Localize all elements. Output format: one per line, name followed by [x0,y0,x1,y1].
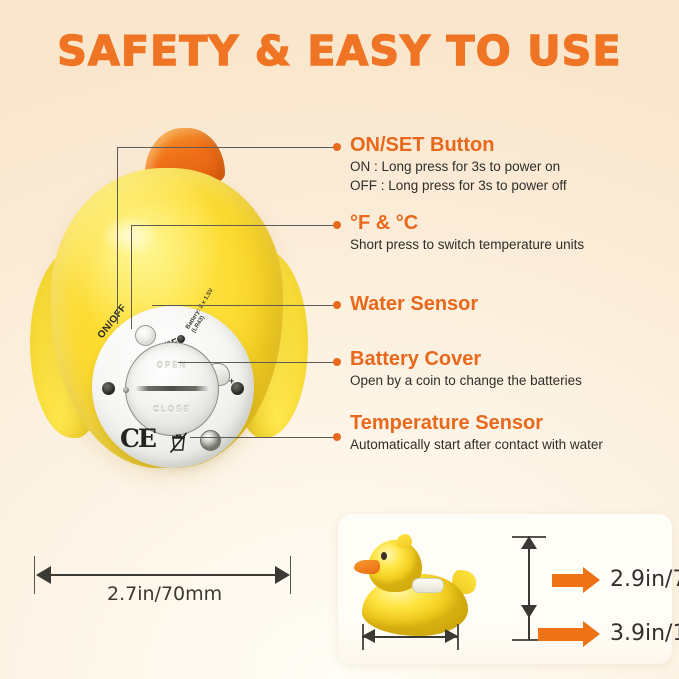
inset-width-label: 3.9in/100mm [610,621,679,646]
callout-line-1: ON : Long press for 3s to power on [350,158,567,176]
inset-height-label: 2.9in/75mm [610,567,679,592]
duck-beak-side [354,560,380,574]
page-title: SAFETY & EASY TO USE [0,27,679,75]
callout-line-1: Short press to switch temperature units [350,236,584,254]
infographic-page: SAFETY & EASY TO USE ON/OFF °C/°F Batter… [0,0,679,679]
leader-line-units-horizontal [131,225,335,226]
callout-temperature-sensor: Temperature Sensor Automatically start a… [350,412,603,455]
dimension-line [40,574,284,576]
callout-on-set-button: ON/SET Button ON : Long press for 3s to … [350,134,567,195]
leader-line-on-set-vertical [117,147,118,324]
control-panel: ON/OFF °C/°F Battery: 2 x 1.5V (LR43) − … [92,306,254,468]
leader-dot-units [333,221,341,229]
temperature-sensor-probe [200,430,221,451]
cover-close-text: CLOSE [126,405,218,414]
duck-eye [381,552,387,560]
callout-arrow-height [552,574,584,587]
callout-line-1: Open by a coin to change the batteries [350,372,582,390]
dimension-cap-right [290,556,291,594]
onoff-button[interactable] [135,325,156,346]
weee-bin-icon [170,432,187,453]
duck-head-tuft [396,534,412,548]
ce-mark: CE [120,426,155,451]
callout-heading: °F & °C [350,212,584,234]
callout-temperature-units: °F & °C Short press to switch temperatur… [350,212,584,255]
duck-product-rear-view: ON/OFF °C/°F Battery: 2 x 1.5V (LR43) − … [28,128,308,478]
callout-line-1: Automatically start after contact with w… [350,436,603,454]
battery-cover[interactable]: OPEN CLOSE [125,342,219,436]
callout-heading: Water Sensor [350,293,478,315]
leader-line-temperature-sensor [190,437,335,438]
leader-dot-on-set [333,143,341,151]
height-dimension-line [528,536,530,640]
coin-slot [135,386,209,391]
callout-heading: Battery Cover [350,348,582,370]
callout-line-2: OFF : Long press for 3s to power off [350,177,567,195]
dimension-arrow-right [275,566,290,584]
height-arrow-up [521,536,537,549]
inset-width-arrow-left [362,629,375,643]
size-inset-panel: 2.9in/75mm 3.9in/100mm [338,514,672,664]
callout-heading: ON/SET Button [350,134,567,156]
panel-screw-left [102,382,115,395]
leader-dot-temperature-sensor [333,433,341,441]
width-dimension-label: 2.7in/70mm [107,583,222,605]
panel-screw-right [231,382,244,395]
callout-battery-cover: Battery Cover Open by a coin to change t… [350,348,582,391]
leader-line-units-vertical [131,225,132,329]
dimension-arrow-left [36,566,51,584]
callout-water-sensor: Water Sensor [350,293,478,315]
callout-arrow-width [538,628,584,641]
height-arrow-down [521,605,537,618]
leader-line-water-sensor [152,305,335,306]
leader-dot-water-sensor [333,301,341,309]
callout-heading: Temperature Sensor [350,412,603,434]
inset-width-line [362,636,458,638]
leader-dot-battery-cover [333,358,341,366]
leader-line-on-set-horizontal [117,147,335,148]
inset-width-arrow-right [445,629,458,643]
duck-display-screen [412,578,444,593]
duck-highlight [88,206,172,264]
panel-vent-hole [123,387,129,393]
leader-line-battery-cover [178,362,335,363]
